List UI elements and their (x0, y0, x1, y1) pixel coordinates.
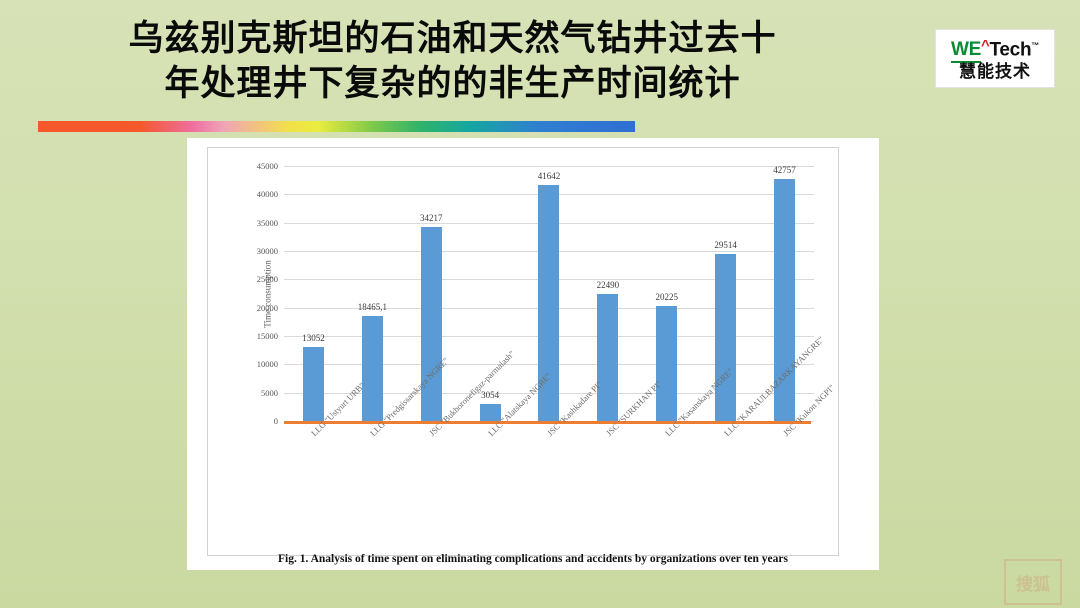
y-axis-tick-label: 35000 (257, 218, 278, 228)
bar-slot: 42757 (755, 166, 814, 421)
chart-bar[interactable]: 34217 (421, 227, 442, 421)
logo-tech-text: Tech (990, 39, 1032, 60)
y-axis-tick-label: 5000 (261, 388, 278, 398)
figure-caption: Fig. 1. Analysis of time spent on elimin… (187, 553, 879, 565)
bar-value-label: 41642 (538, 171, 561, 181)
watermark-seal: 搜狐 (1004, 559, 1062, 605)
y-axis-tick-label: 40000 (257, 189, 278, 199)
y-axis-tick-label: 45000 (257, 161, 278, 171)
bar-value-label: 34217 (420, 213, 443, 223)
y-axis-tick-label: 25000 (257, 274, 278, 284)
bar-value-label: 20225 (656, 292, 679, 302)
chart-bar[interactable]: 18465,1 (362, 316, 383, 421)
logo-wordmark: WE^Tech™ (951, 36, 1039, 59)
bar-slot: 13052 (284, 166, 343, 421)
bar-slot: 3054 (461, 166, 520, 421)
wetech-logo: WE^Tech™ 慧能技术 (935, 29, 1055, 88)
figure-panel: Time consumption 05000100001500020000250… (187, 138, 879, 570)
y-axis-tick-label: 30000 (257, 246, 278, 256)
bar-slot: 34217 (402, 166, 461, 421)
logo-chinese-name: 慧能技术 (959, 62, 1031, 81)
chart-container: Time consumption 05000100001500020000250… (207, 147, 839, 556)
logo-trademark-icon: ™ (1031, 41, 1039, 50)
logo-caret-icon: ^ (981, 37, 989, 54)
bar-value-label: 42757 (773, 165, 796, 175)
bar-slot: 20225 (637, 166, 696, 421)
y-axis-tick-label: 15000 (257, 331, 278, 341)
bar-value-label: 29514 (714, 240, 737, 250)
bar-slot: 22490 (578, 166, 637, 421)
chart-bar[interactable]: 20225 (656, 306, 677, 421)
y-axis-tick-label: 0 (274, 416, 278, 426)
title-accent-bar (38, 121, 635, 132)
bar-slot: 41642 (520, 166, 579, 421)
bar-value-label: 3054 (481, 390, 499, 400)
y-axis-tick-label: 20000 (257, 303, 278, 313)
chart-bar[interactable]: 22490 (597, 294, 618, 421)
bar-slot: 29514 (696, 166, 755, 421)
y-axis-title-text: Time consumption (263, 260, 273, 327)
chart-bar[interactable]: 29514 (715, 254, 736, 421)
bar-slot: 18465,1 (343, 166, 402, 421)
plot-area: 0500010000150002000025000300003500040000… (284, 166, 814, 421)
slide-title: 乌兹别克斯坦的石油和天然气钻井过去十 年处理井下复杂的的非生产时间统计 (0, 16, 905, 106)
bar-value-label: 13052 (302, 333, 325, 343)
title-line-1: 乌兹别克斯坦的石油和天然气钻井过去十 (0, 16, 905, 61)
y-axis-tick-label: 10000 (257, 359, 278, 369)
chart-bar[interactable]: 13052 (303, 347, 324, 421)
title-line-2: 年处理井下复杂的的非生产时间统计 (0, 61, 905, 106)
bar-value-label: 18465,1 (358, 302, 387, 312)
bar-value-label: 22490 (597, 280, 620, 290)
logo-we-text: WE (951, 39, 981, 63)
